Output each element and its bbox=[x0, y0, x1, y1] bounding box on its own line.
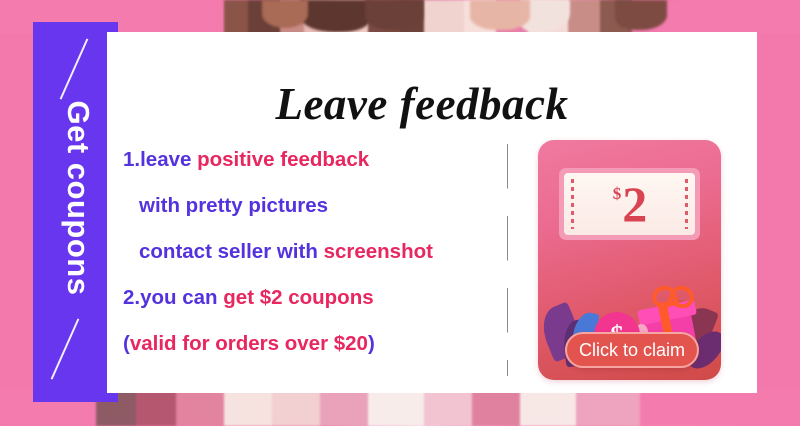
instruction-highlight: valid for orders over $20 bbox=[130, 332, 368, 355]
instruction-text: 1.leave bbox=[123, 148, 197, 171]
person-face-left-icon bbox=[262, 0, 308, 28]
list-item: (valid for orders over $20) bbox=[123, 321, 513, 367]
instruction-highlight: get $2 coupons bbox=[223, 286, 373, 309]
instruction-paren-close: ) bbox=[368, 332, 375, 355]
promo-banner: Get coupons Leave feedback 1.leave posit… bbox=[0, 0, 800, 426]
instruction-highlight: positive feedback bbox=[197, 148, 369, 171]
person-hair-mid-icon bbox=[365, 0, 423, 30]
list-item: with pretty pictures bbox=[123, 183, 513, 229]
page-title: Leave feedback bbox=[107, 78, 757, 130]
person-face-right-icon bbox=[470, 0, 530, 30]
side-panel: Get coupons bbox=[33, 22, 118, 402]
instruction-text: contact seller with bbox=[139, 240, 324, 263]
instruction-paren-open: ( bbox=[123, 332, 130, 355]
coupon-ticket-inner: $ 2 bbox=[564, 173, 695, 235]
perforation-left-icon bbox=[571, 179, 574, 229]
content-card: Leave feedback 1.leave positive feedback… bbox=[107, 32, 757, 393]
person-hair-right-icon bbox=[615, 0, 667, 30]
list-item: 1.leave positive feedback bbox=[123, 137, 513, 183]
slash-decoration-bottom-icon bbox=[51, 318, 80, 379]
coupon-ticket: $ 2 bbox=[559, 168, 700, 240]
claim-button[interactable]: Click to claim bbox=[565, 332, 699, 368]
instruction-text: with pretty pictures bbox=[139, 194, 328, 217]
list-item: contact seller with screenshot bbox=[123, 229, 513, 275]
list-item: 2.you can get $2 coupons bbox=[123, 275, 513, 321]
amount-value: 2 bbox=[622, 179, 646, 229]
instruction-highlight: screenshot bbox=[324, 240, 433, 263]
vertical-dashed-divider bbox=[507, 144, 508, 376]
perforation-right-icon bbox=[685, 179, 688, 229]
currency-symbol: $ bbox=[613, 185, 622, 202]
coupon-amount: $ 2 bbox=[613, 179, 647, 229]
instruction-text: 2.you can bbox=[123, 286, 223, 309]
side-panel-label: Get coupons bbox=[60, 78, 96, 318]
person-hair-left-icon bbox=[300, 0, 370, 32]
instructions-list: 1.leave positive feedback with pretty pi… bbox=[123, 137, 513, 367]
coupon-card[interactable]: $ 2 $ Click to claim bbox=[538, 140, 721, 380]
